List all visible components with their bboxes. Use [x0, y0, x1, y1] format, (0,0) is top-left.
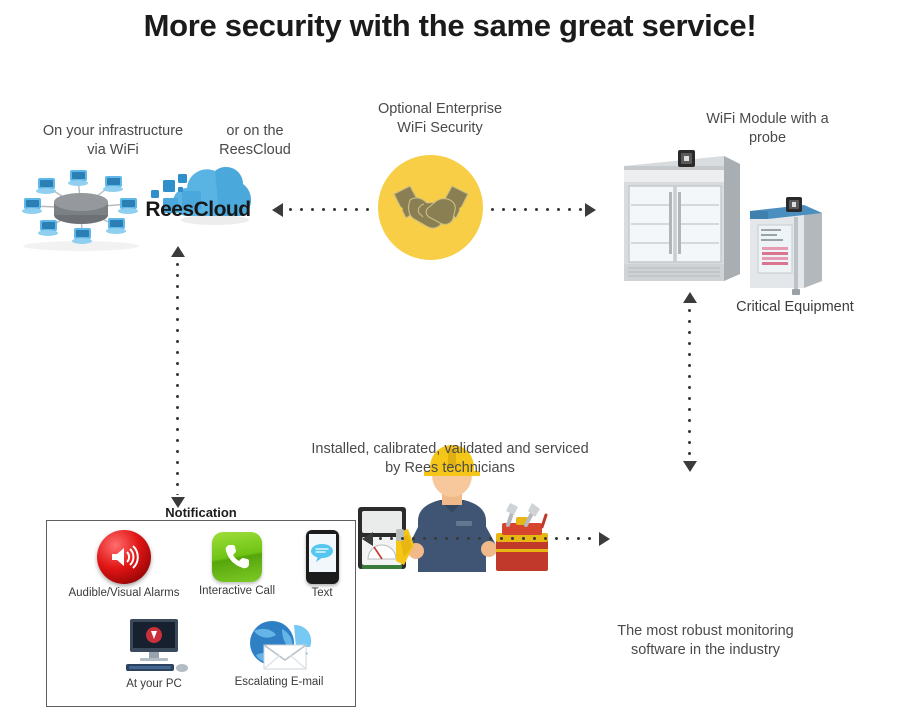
critical-equipment-label: Critical Equipment — [700, 298, 890, 317]
connector-security-to-equipment — [487, 203, 597, 217]
page-title: More security with the same great servic… — [0, 8, 900, 44]
dotted-line — [375, 537, 597, 540]
notification-item-call[interactable]: Interactive Call — [187, 532, 287, 597]
phone-handset-icon — [212, 532, 262, 582]
dotted-line — [688, 305, 691, 459]
connector-cloud-to-notification — [171, 246, 185, 508]
wifi-module-label: WiFi Module with a probe — [680, 110, 855, 147]
notification-panel: Audible/Visual Alarms Interactive Call — [46, 520, 356, 707]
desktop-alert-icon — [118, 619, 190, 675]
arrow-up-icon — [171, 246, 185, 257]
software-label: The most robust monitoring software in t… — [588, 622, 823, 659]
arrow-right-icon — [585, 203, 596, 217]
arrow-left-icon — [362, 532, 373, 546]
notification-item-label: Audible/Visual Alarms — [64, 587, 184, 599]
infrastructure-label: On your infrastructure via WiFi — [18, 122, 208, 159]
globe-envelope-icon — [242, 617, 316, 673]
connector-cloud-to-security — [272, 203, 376, 217]
handshake-icon — [378, 155, 483, 260]
critical-equipment-icon — [742, 193, 832, 303]
arrow-left-icon — [272, 203, 283, 217]
notification-title: Notification — [46, 505, 356, 520]
arrow-down-icon — [683, 461, 697, 472]
notification-item-alarms[interactable]: Audible/Visual Alarms — [64, 530, 184, 599]
connector-notification-to-software — [362, 532, 610, 546]
phone-screen — [309, 534, 336, 572]
technician-label: Installed, calibrated, validated and ser… — [280, 440, 620, 477]
notification-item-label: At your PC — [99, 678, 209, 690]
arrow-up-icon — [683, 292, 697, 303]
wifi-security-label: Optional Enterprise WiFi Security — [355, 100, 525, 137]
notification-item-pc[interactable]: At your PC — [99, 619, 209, 690]
reescloud-wordmark: ReesCloud — [138, 198, 258, 222]
notification-item-label: Interactive Call — [187, 585, 287, 597]
cloud-label: or on the ReesCloud — [200, 122, 310, 159]
connector-equipment-to-software — [683, 292, 697, 472]
smartphone-sms-icon — [306, 530, 339, 584]
dotted-line — [176, 259, 179, 495]
notification-item-email[interactable]: Escalating E-mail — [219, 617, 339, 688]
diagram-canvas: More security with the same great servic… — [0, 0, 900, 707]
arrow-down-icon — [171, 497, 185, 508]
arrow-right-icon — [599, 532, 610, 546]
speaker-alarm-icon — [97, 530, 151, 584]
notification-item-label: Escalating E-mail — [219, 676, 339, 688]
dotted-line — [487, 208, 583, 211]
notification-item-text[interactable]: Text — [292, 530, 352, 599]
network-hub-icon — [16, 160, 146, 252]
notification-item-label: Text — [292, 587, 352, 599]
dotted-line — [285, 208, 375, 211]
